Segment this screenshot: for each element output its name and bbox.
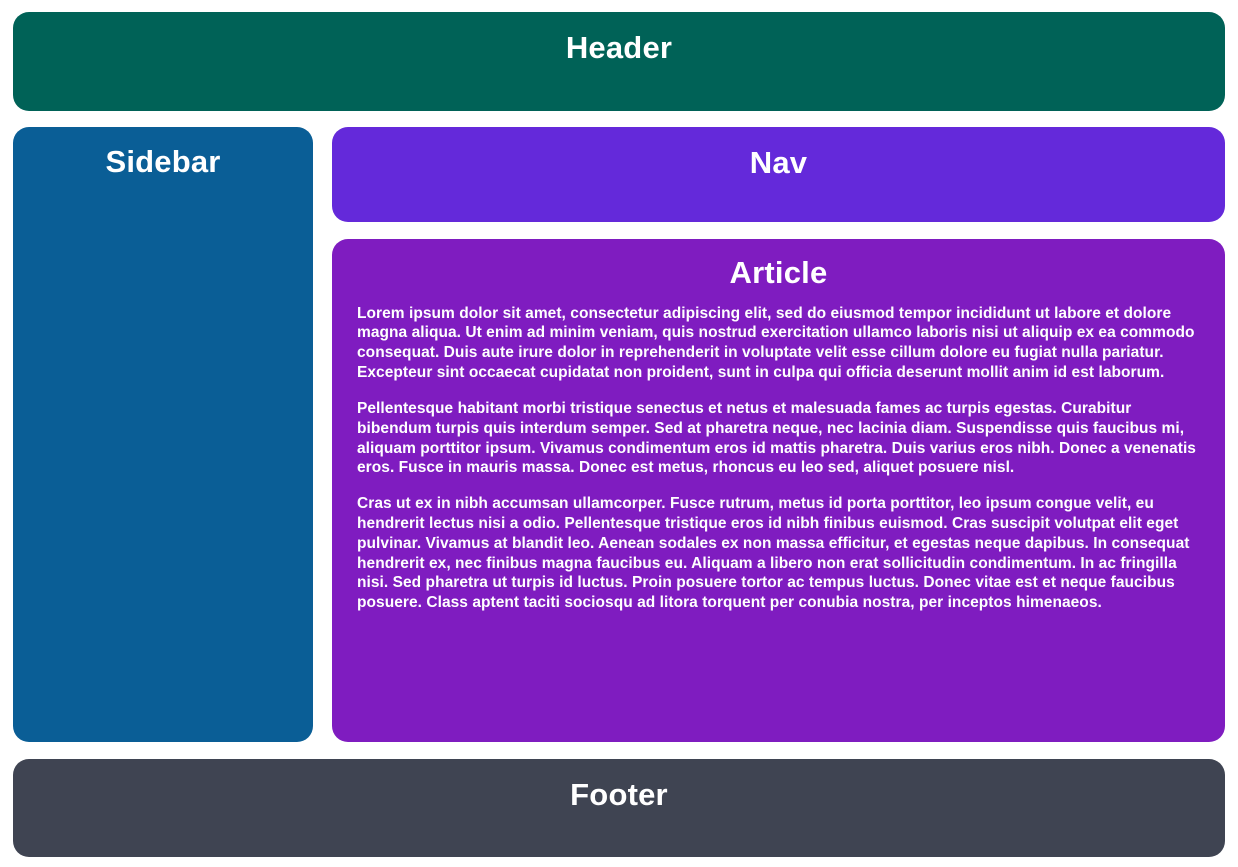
article-paragraph: Pellentesque habitant morbi tristique se…	[357, 399, 1200, 478]
nav-region[interactable]: Nav	[332, 127, 1225, 222]
sidebar-title: Sidebar	[13, 146, 313, 179]
sidebar-region: Sidebar	[13, 127, 313, 742]
header-region: Header	[13, 12, 1225, 111]
page-root: Header Sidebar Nav Article Lorem ipsum d…	[0, 0, 1238, 867]
article-title: Article	[357, 257, 1200, 290]
middle-band: Sidebar Nav Article Lorem ipsum dolor si…	[13, 127, 1225, 742]
nav-title: Nav	[332, 147, 1225, 180]
article-paragraph: Lorem ipsum dolor sit amet, consectetur …	[357, 304, 1200, 383]
header-title: Header	[13, 32, 1225, 65]
footer-region: Footer	[13, 759, 1225, 857]
footer-title: Footer	[13, 779, 1225, 812]
main-column: Nav Article Lorem ipsum dolor sit amet, …	[332, 127, 1225, 742]
article-paragraph: Cras ut ex in nibh accumsan ullamcorper.…	[357, 494, 1200, 613]
article-region: Article Lorem ipsum dolor sit amet, cons…	[332, 239, 1225, 742]
